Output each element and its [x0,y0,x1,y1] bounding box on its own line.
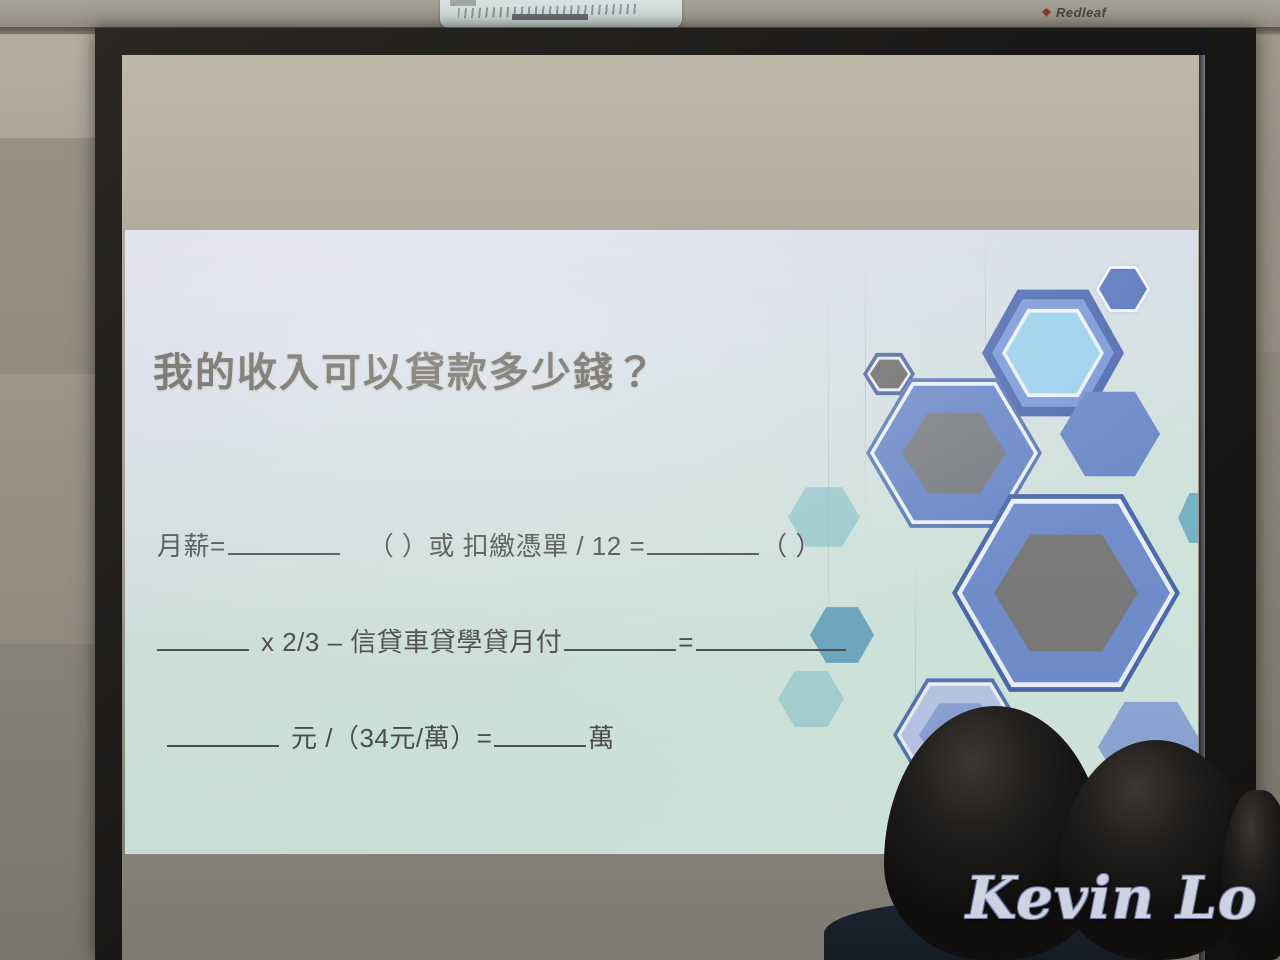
slide-line-two-thirds: x 2/3 – 信貸車貸學貸月付 = [155,622,848,659]
wall-panel-lower [0,644,96,960]
line1-label-salary: 月薪= [157,526,226,563]
slide-title: 我的收入可以貸款多少錢？ [153,340,657,398]
hex-edge-teal-right-icon [1178,492,1198,544]
line1-blank-salary [228,527,340,555]
line2-equals: = [678,627,694,658]
valance-sticker [440,0,682,28]
line2-blank-result [696,623,846,651]
line2-blank-monthly-payment [564,623,676,651]
hex-mid-right-solid-icon [1060,390,1160,478]
wall-panel-upper [0,138,96,374]
slide-line-loan-capacity: 元 /（34元/萬）= 萬 [165,718,615,755]
line1-label-withholding: （ ）或 扣繳憑單 / 12 = [368,526,645,563]
sticker-barcode [512,14,588,20]
line3-label-divisor: 元 /（34元/萬）= [291,718,492,755]
sticker-tag [450,0,476,6]
audience-head-far-right [1222,790,1280,960]
wall-right-upper [1256,0,1280,352]
hardware-brand: Redleaf [1042,5,1106,20]
line2-blank-leading [157,623,249,651]
line3-unit-wan: 萬 [588,718,615,755]
hex-big-ring-gray-icon [952,490,1180,696]
line1-paren-trailing: （ ） [761,526,822,563]
wall-panel-middle [0,374,96,644]
brand-label: Redleaf [1056,5,1106,20]
line1-blank-withholding [647,527,759,555]
red-leaf-icon [1042,8,1051,17]
hex-teal-bottom-left-icon [778,670,844,728]
line2-label-loans: x 2/3 – 信貸車貸學貸月付 [261,622,562,659]
line3-blank-amount [167,719,279,747]
photo-scene: Redleaf [0,0,1280,960]
slide-line-monthly-salary: 月薪= （ ）或 扣繳憑單 / 12 = （ ） [157,526,822,563]
line3-blank-result [494,719,586,747]
